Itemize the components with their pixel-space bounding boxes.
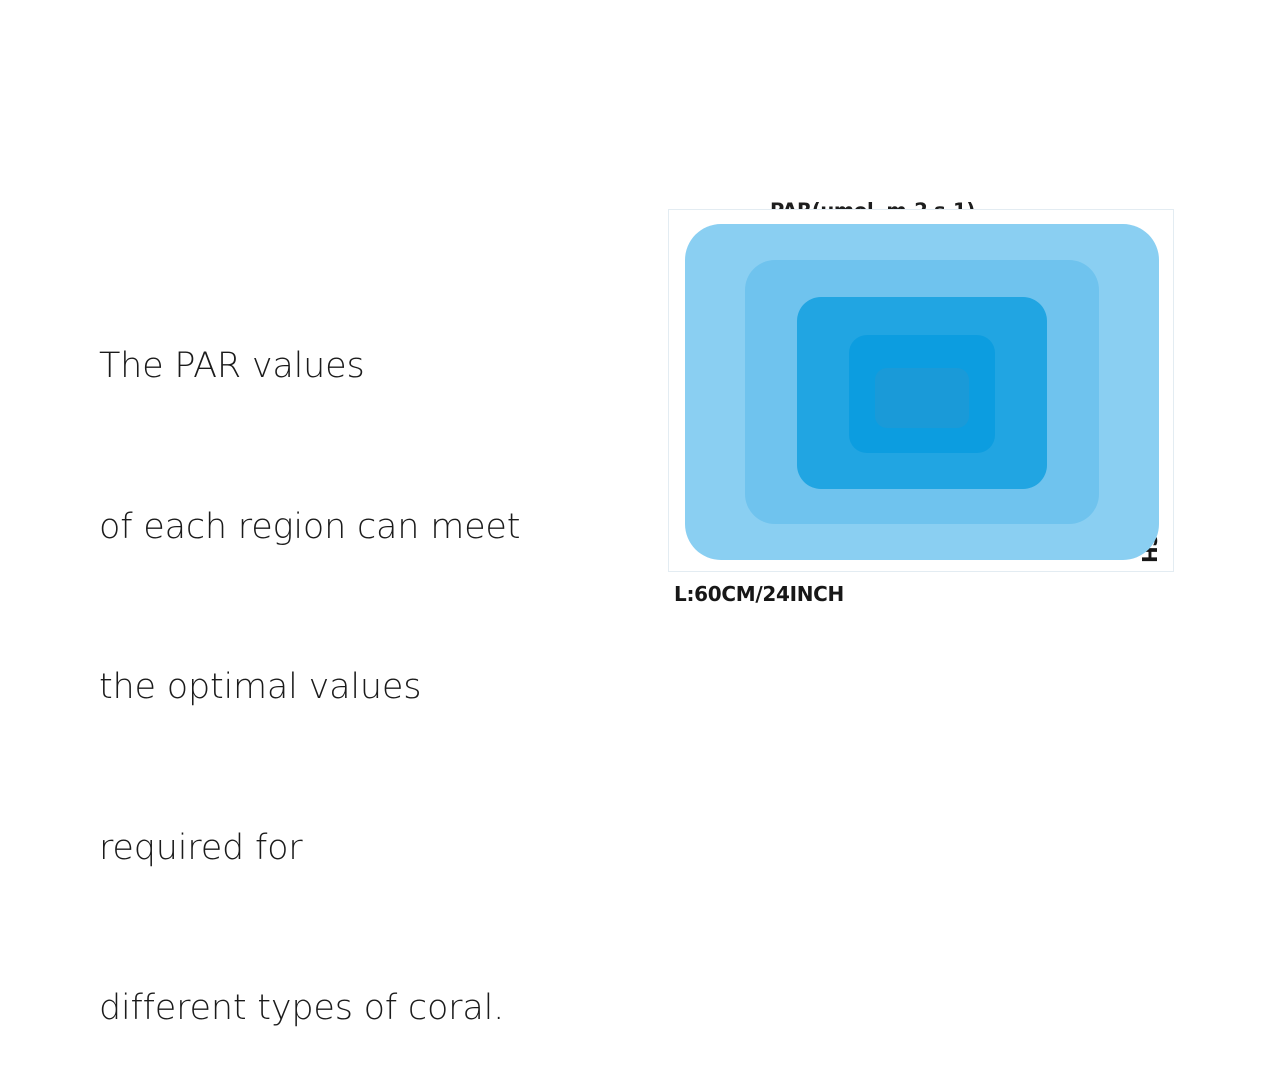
description-text: The PAR values of each region can meet t… (99, 233, 639, 1089)
par-band (875, 368, 969, 428)
description-line: required for (99, 822, 639, 876)
description-line: of each region can meet (99, 501, 639, 555)
par-band-stack (669, 210, 1173, 571)
length-axis-label: L:60CM/24INCH (674, 582, 844, 606)
description-line: The PAR values (99, 340, 639, 394)
description-line: different types of coral. (99, 982, 639, 1036)
description-line: the optimal values (99, 661, 639, 715)
diagram-frame: 260-300180-260100-18040-100 (668, 209, 1174, 572)
par-diagram: PAR(umol m-2 s-1) 30cm/12inch from light… (666, 146, 1196, 616)
